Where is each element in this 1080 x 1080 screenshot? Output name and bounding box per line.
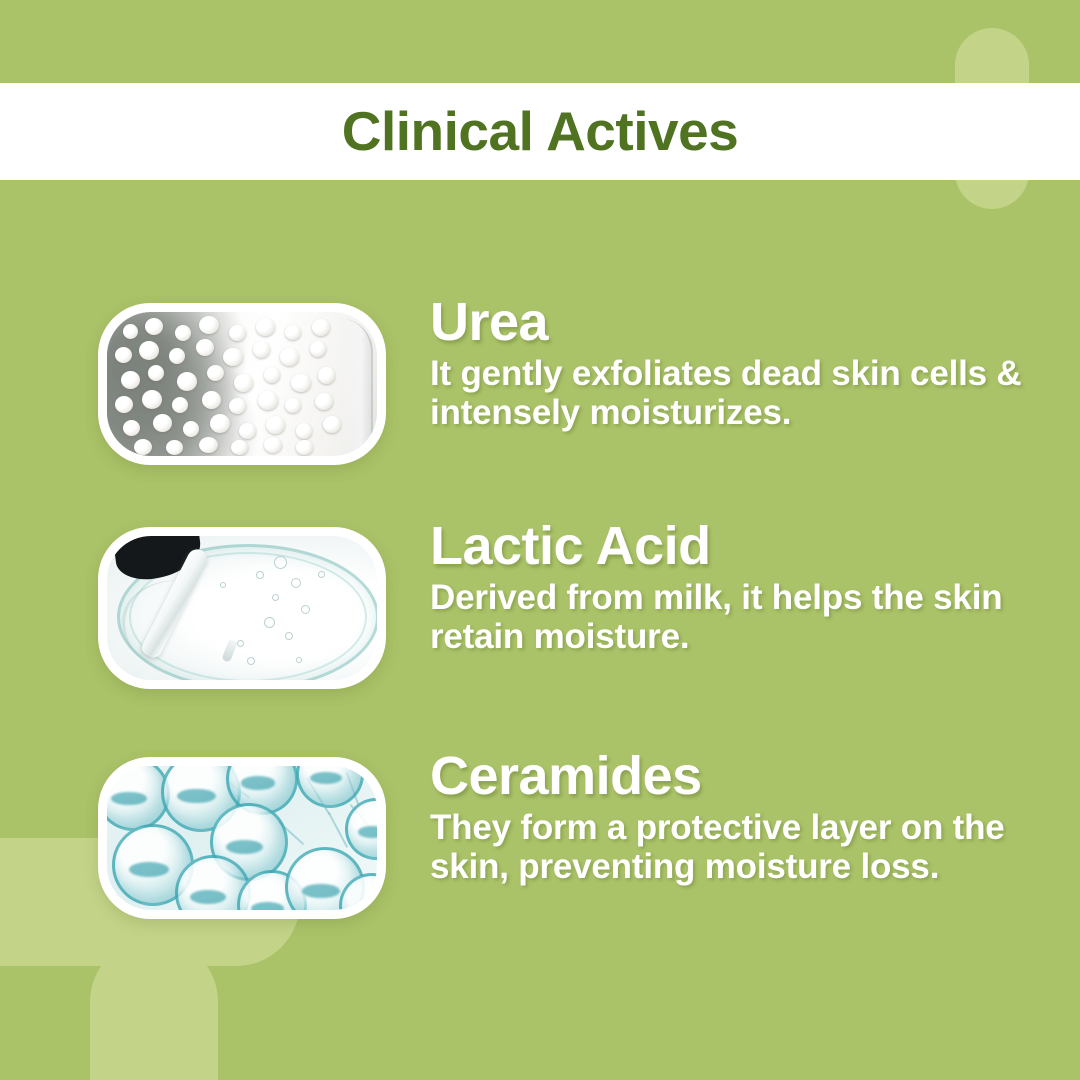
active-thumbnail-ceramides [98,757,386,919]
ceramide-spheres-photo [107,766,377,910]
clinical-actives-infographic: Clinical Actives [0,0,1080,1080]
urea-granule-cluster [107,312,377,456]
active-thumbnail-urea [98,303,386,465]
urea-granules-photo [107,312,377,456]
actives-list: Urea It gently exfoliates dead skin cell… [0,180,1080,1080]
lactic-acid-gel-pipette-photo [107,536,377,680]
glass-dish-rim [339,318,373,456]
page-title: Clinical Actives [342,104,739,159]
active-description: They form a protective layer on the skin… [430,808,1045,886]
active-description: It gently exfoliates dead skin cells & i… [430,354,1030,432]
active-description: Derived from milk, it helps the skin ret… [430,578,1030,656]
active-text-urea: Urea It gently exfoliates dead skin cell… [430,295,1050,432]
header-band: Clinical Actives [0,83,1080,180]
active-text-lactic-acid: Lactic Acid Derived from milk, it helps … [430,519,1050,656]
active-name: Ceramides [430,749,1050,804]
active-name: Urea [430,295,1050,350]
active-name: Lactic Acid [430,519,1050,574]
active-text-ceramides: Ceramides They form a protective layer o… [430,749,1050,886]
active-thumbnail-lactic-acid [98,527,386,689]
